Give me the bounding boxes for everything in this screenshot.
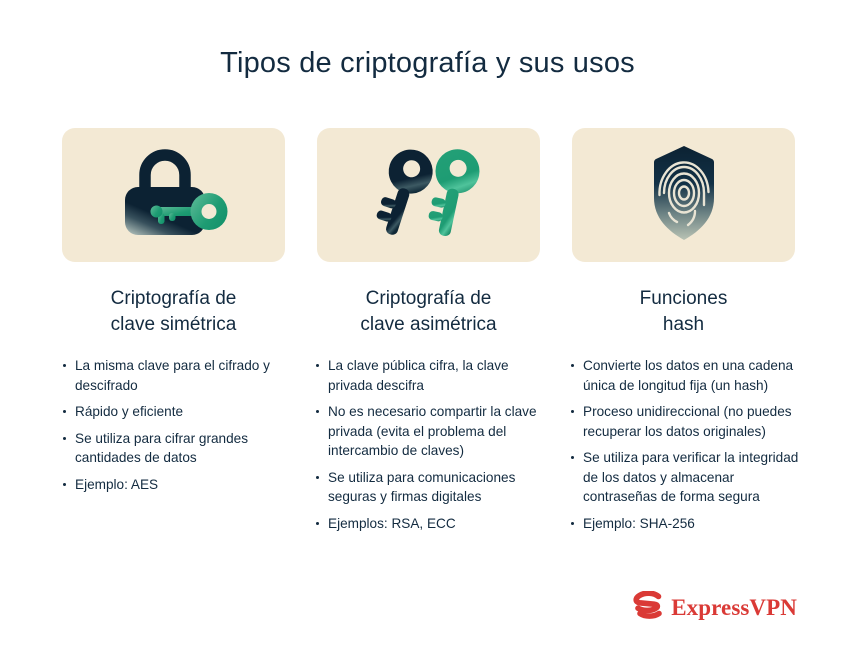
heading-asymmetric-key: Criptografía de clave asimétrica [317,286,540,338]
page-title: Tipos de criptografía y sus usos [0,47,855,80]
columns-container: Criptografía de clave simétrica La misma… [62,128,795,540]
expressvpn-wordmark: ExpressVPN [671,595,797,621]
column-hash-functions: Funciones hash Convierte los datos en un… [572,128,795,540]
list-item: Proceso unidireccional (no puedes recupe… [570,402,802,441]
list-item: La clave pública cifra, la clave privada… [315,356,543,395]
list-item: No es necesario compartir la clave priva… [315,402,543,461]
list-item: Se utiliza para cifrar grandes cantidade… [62,429,272,468]
bullet-list-symmetric: La misma clave para el cifrado y descifr… [62,356,272,501]
expressvpn-mark-icon [633,591,664,625]
list-item: Convierte los datos en una cadena única … [570,356,802,395]
icon-card-hash [572,128,795,262]
heading-symmetric-key: Criptografía de clave simétrica [62,286,285,338]
list-item: Rápido y eficiente [62,402,272,422]
list-item: Se utiliza para comunicaciones seguras y… [315,468,543,507]
heading-hash-functions: Funciones hash [572,286,795,338]
list-item: Ejemplo: AES [62,475,272,495]
icon-card-symmetric [62,128,285,262]
list-item: La misma clave para el cifrado y descifr… [62,356,272,395]
bullet-list-asymmetric: La clave pública cifra, la clave privada… [315,356,543,540]
icon-card-asymmetric [317,128,540,262]
two-keys-icon [369,143,489,248]
expressvpn-logo: ExpressVPN [633,591,797,625]
bullet-list-hash: Convierte los datos en una cadena única … [570,356,802,540]
list-item: Ejemplo: SHA-256 [570,514,802,534]
list-item: Ejemplos: RSA, ECC [315,514,543,534]
list-item: Se utiliza para verificar la integridad … [570,448,802,507]
padlock-with-key-icon [115,147,233,244]
shield-fingerprint-icon [638,143,730,248]
infographic-page: Tipos de criptografía y sus usos [0,0,855,657]
column-symmetric-key: Criptografía de clave simétrica La misma… [62,128,285,540]
column-asymmetric-key: Criptografía de clave asimétrica La clav… [317,128,540,540]
